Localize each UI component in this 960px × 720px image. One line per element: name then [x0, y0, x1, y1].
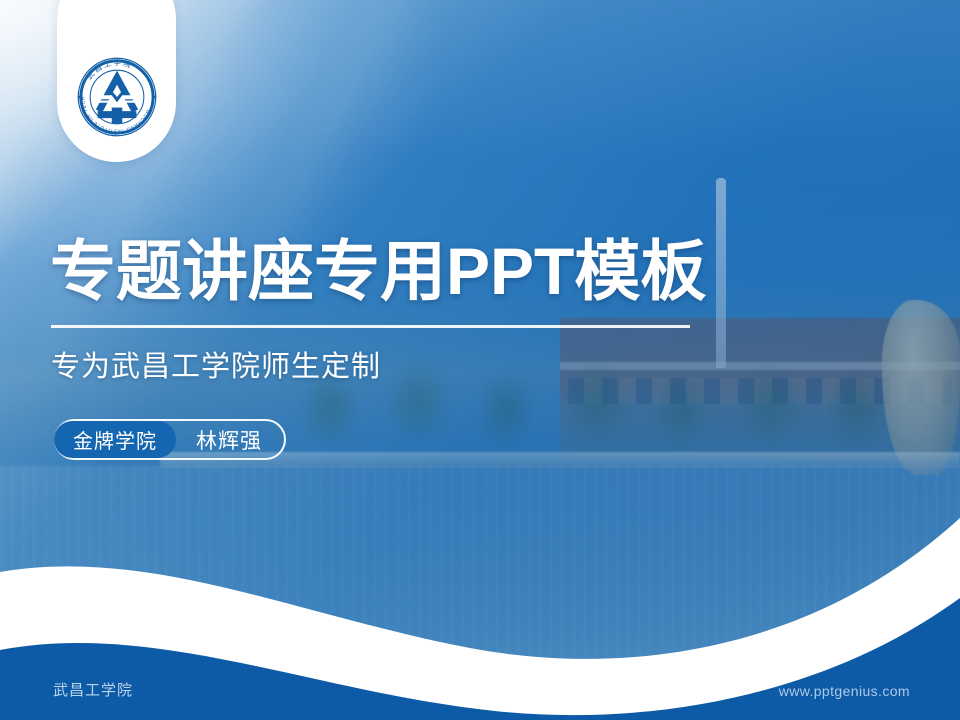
- ppt-cover-slide: 武昌工学院 WUCHANG INSTITUTE OF TECHNOLOGY 专题…: [0, 0, 960, 720]
- credit-badge: 金牌学院 林辉强: [54, 419, 286, 460]
- title-divider: [51, 325, 690, 328]
- page-subtitle: 专为武昌工学院师生定制: [51, 350, 381, 385]
- page-title: 专题讲座专用PPT模板: [50, 238, 706, 304]
- university-emblem-icon: 武昌工学院 WUCHANG INSTITUTE OF TECHNOLOGY: [73, 53, 161, 141]
- badge-author-name: 林辉强: [176, 425, 262, 455]
- footer-organization-label: 武昌工学院: [53, 679, 133, 700]
- footer-website-label: www.pptgenius.com: [779, 683, 910, 699]
- university-logo-badge: 武昌工学院 WUCHANG INSTITUTE OF TECHNOLOGY: [57, 0, 176, 162]
- bottom-wave-decoration: [0, 460, 960, 720]
- svg-text:武昌工学院: 武昌工学院: [83, 57, 133, 81]
- badge-chip-label: 金牌学院: [54, 421, 176, 458]
